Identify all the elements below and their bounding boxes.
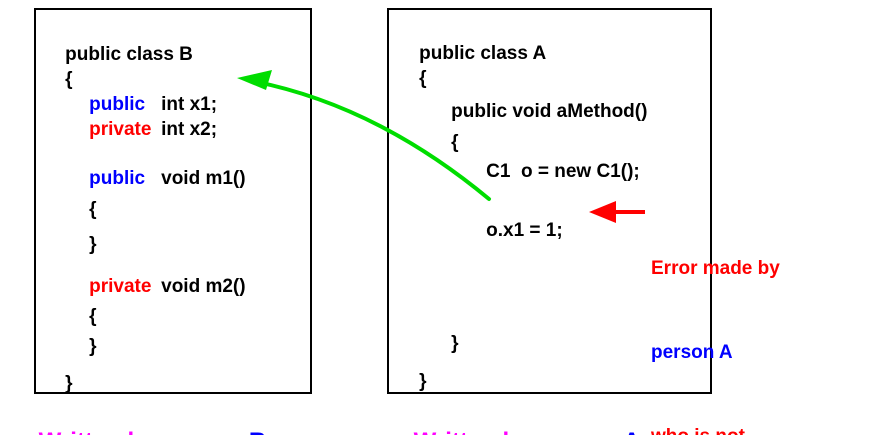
caption-right-subject: person A	[537, 428, 640, 435]
class-a-stmt-assign-x1: o.x1 = 1;	[465, 202, 563, 259]
class-b-m1-close-brace-text: }	[89, 234, 96, 255]
class-b-line-0-text: public class B	[65, 44, 193, 65]
class-a-line-1: {	[398, 50, 427, 107]
error-annotation: Error made by person A who is not famili…	[651, 199, 866, 435]
annotation-line-0: Error made by	[651, 255, 866, 283]
class-a-line-1-text: {	[419, 68, 426, 89]
class-b-method-m2-decl: void m2()	[161, 276, 245, 297]
class-a-method-amethod-decl: public void aMethod()	[430, 83, 647, 140]
annotation-line-1: person A	[651, 339, 866, 367]
caption-right: Written by person A	[387, 400, 640, 435]
caption-left-prefix: Written by	[39, 428, 163, 435]
class-a-method-amethod-text: public void aMethod()	[451, 101, 647, 122]
class-a-stmt-new-c1-text: C1 o = new C1();	[486, 161, 640, 182]
annotation-line-2: who is not	[651, 423, 866, 435]
class-a-line-0-text: public class A	[419, 43, 546, 64]
class-a-amethod-close-brace: }	[430, 315, 459, 372]
class-a-amethod-open-brace-text: {	[451, 132, 458, 153]
caption-left-subject: person B	[162, 428, 266, 435]
class-a-stmt-assign-x1-text: o.x1 = 1;	[486, 220, 563, 241]
class-b-m2-close-brace-text: }	[89, 336, 96, 357]
class-b-method-m1-decl: void m1()	[161, 168, 245, 189]
class-a-stmt-new-c1: C1 o = new C1();	[465, 143, 640, 200]
class-a-close-brace-text: }	[419, 371, 426, 392]
keyword-private: private	[89, 277, 161, 296]
keyword-private: private	[89, 120, 161, 139]
class-a-amethod-close-brace-text: }	[451, 333, 458, 354]
class-b-close-brace-text: }	[65, 373, 72, 394]
caption-right-prefix: Written by	[414, 428, 538, 435]
diagram-canvas: public class B { publicint x1; privatein…	[0, 0, 871, 435]
class-a-amethod-open-brace: {	[430, 114, 459, 171]
class-b-field-x2-decl: int x2;	[161, 119, 217, 140]
keyword-public: public	[89, 169, 161, 188]
caption-left: Written by person B	[12, 400, 266, 435]
